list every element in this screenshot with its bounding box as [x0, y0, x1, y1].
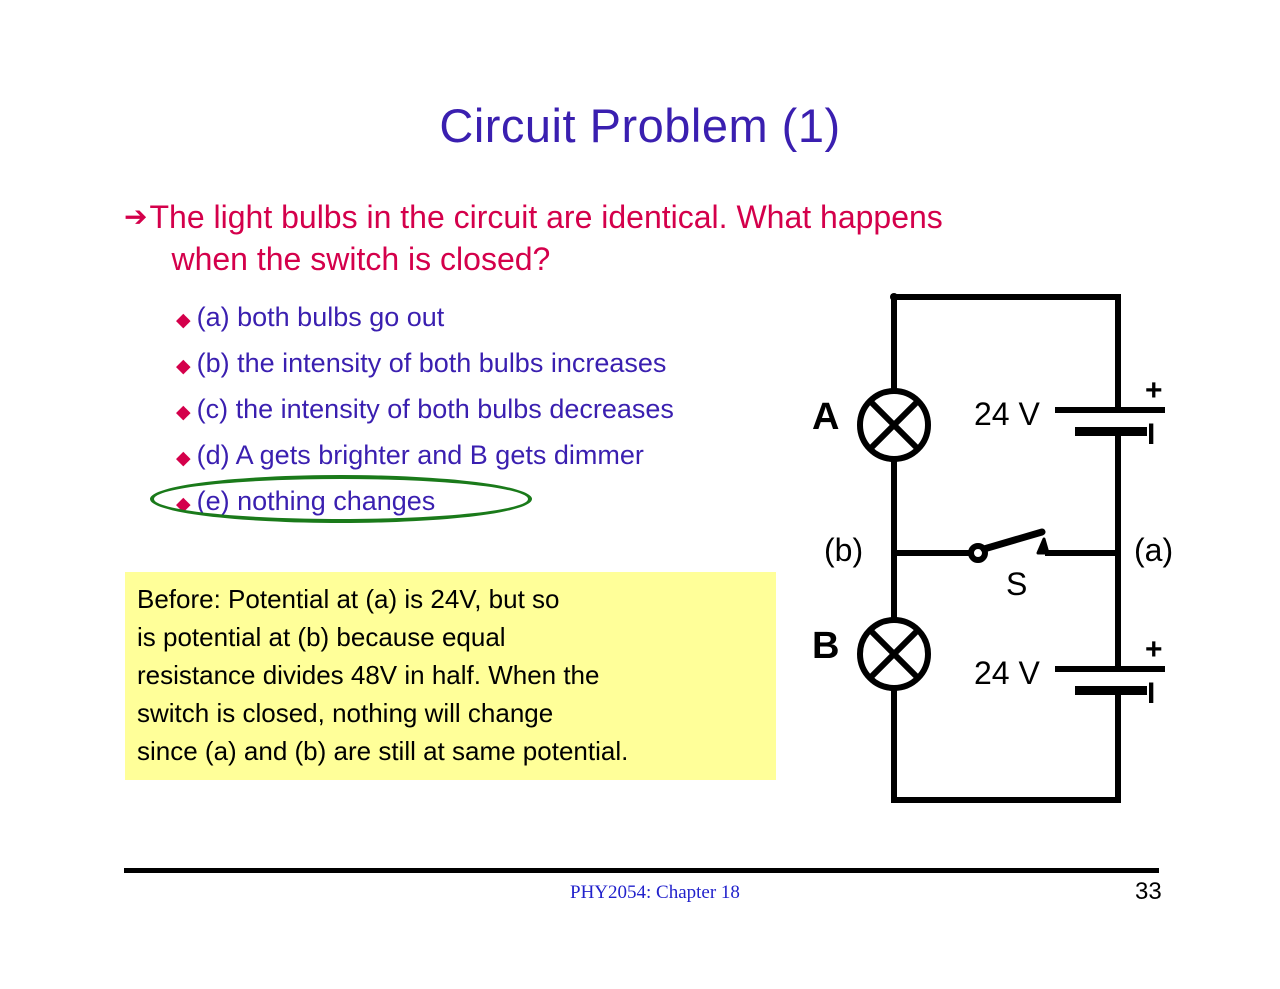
bulb-b-symbol [860, 620, 928, 688]
diamond-bullet-icon: ◆ [176, 436, 191, 482]
diamond-bullet-icon: ◆ [176, 298, 191, 344]
question-line-1: The light bulbs in the circuit are ident… [149, 199, 942, 235]
diamond-bullet-icon: ◆ [176, 482, 191, 528]
bulb-a-label: A [812, 396, 839, 439]
option-label-b: (b) the intensity of both bulbs increase… [197, 340, 667, 386]
explanation-line: is potential at (b) because equal [137, 618, 776, 656]
option-label-e: (e) nothing changes [197, 478, 436, 524]
option-label-d: (d) A gets brighter and B gets dimmer [197, 432, 644, 478]
battery-bottom-voltage: 24 V [974, 655, 1040, 692]
footer-divider [124, 868, 1159, 873]
option-label-c: (c) the intensity of both bulbs decrease… [197, 386, 674, 432]
option-item-a[interactable]: ◆ (a) both bulbs go out [176, 294, 836, 340]
option-label-a: (a) both bulbs go out [197, 294, 445, 340]
page-title: Circuit Problem (1) [0, 98, 1280, 153]
battery-top-minus-sign: I [1147, 418, 1155, 452]
option-item-d[interactable]: ◆ (d) A gets brighter and B gets dimmer [176, 432, 836, 478]
switch-symbol [971, 532, 1048, 560]
option-item-c[interactable]: ◆ (c) the intensity of both bulbs decrea… [176, 386, 836, 432]
switch-label: S [1006, 566, 1027, 603]
explanation-line: switch is closed, nothing will change [137, 694, 776, 732]
bulb-a-symbol [860, 391, 928, 459]
node-b-label: (b) [824, 532, 863, 569]
battery-bottom-plus-sign: + [1145, 633, 1163, 667]
question-text: The light bulbs in the circuit are ident… [149, 196, 942, 280]
diamond-bullet-icon: ◆ [176, 344, 191, 390]
page-number: 33 [1135, 878, 1162, 906]
explanation-line: since (a) and (b) are still at same pote… [137, 732, 776, 770]
explanation-line: Before: Potential at (a) is 24V, but so [137, 580, 776, 618]
explanation-line: resistance divides 48V in half. When the [137, 656, 776, 694]
circuit-diagram: A B (b) (a) S 24 V 24 V + I + I [790, 270, 1210, 830]
footer-source-text: PHY2054: Chapter 18 [570, 882, 740, 904]
battery-top-plus-sign: + [1145, 374, 1163, 408]
option-item-e[interactable]: ◆ (e) nothing changes [176, 478, 836, 524]
diamond-bullet-icon: ◆ [176, 390, 191, 436]
node-a-label: (a) [1134, 532, 1173, 569]
arrow-bullet-icon: ➔ [124, 196, 147, 238]
options-list: ◆ (a) both bulbs go out ◆ (b) the intens… [176, 294, 836, 524]
bulb-b-label: B [812, 625, 839, 668]
option-item-b[interactable]: ◆ (b) the intensity of both bulbs increa… [176, 340, 836, 386]
explanation-box: Before: Potential at (a) is 24V, but so … [125, 572, 776, 780]
battery-top-voltage: 24 V [974, 396, 1040, 433]
node-dot-top-left [890, 293, 898, 301]
question-block: ➔ The light bulbs in the circuit are ide… [124, 196, 1184, 280]
battery-bottom-minus-sign: I [1147, 677, 1155, 711]
question-row: ➔ The light bulbs in the circuit are ide… [124, 196, 1184, 280]
